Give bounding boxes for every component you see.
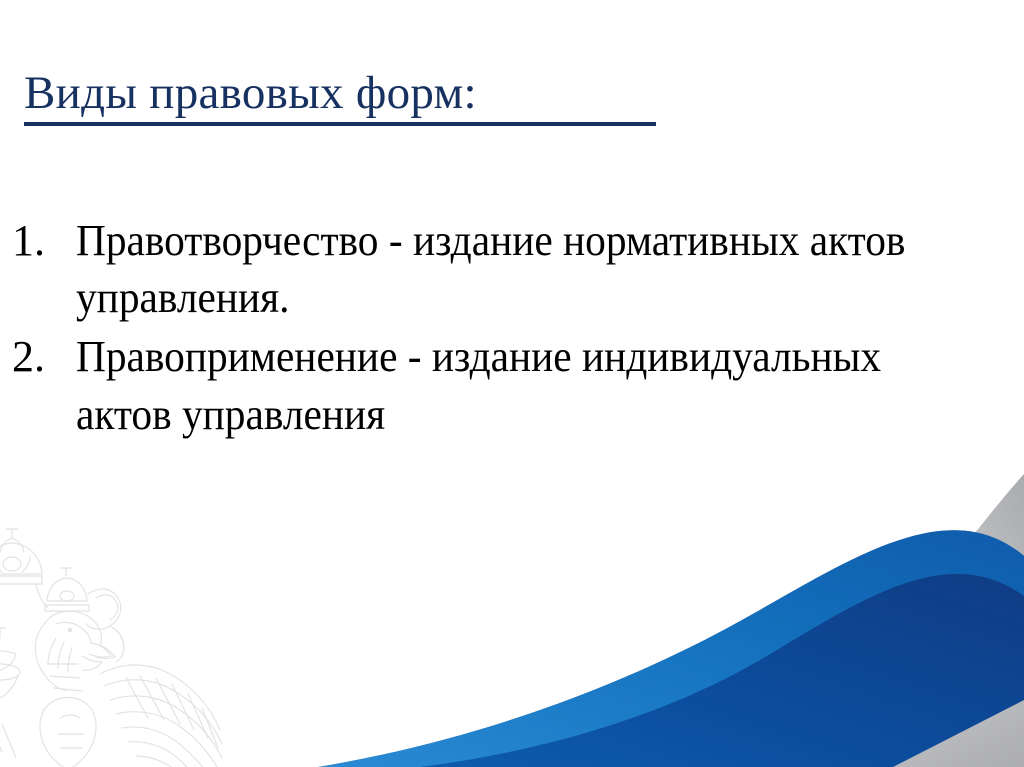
swoosh-blue-band	[318, 530, 1024, 767]
page-title: Виды правовых форм:	[24, 68, 684, 119]
presentation-slide: Виды правовых форм: 1. Правотворчество -…	[0, 0, 1024, 767]
content-body: 1. Правотворчество - издание нормативных…	[8, 212, 1008, 445]
swoosh-gray-accent	[948, 474, 1024, 612]
list-item-text: Правотворчество - издание нормативных ак…	[76, 212, 952, 326]
title-underline-rule	[24, 122, 656, 126]
list-item: 2. Правоприменение - издание индивидуаль…	[8, 328, 1008, 442]
list-item-marker: 1.	[12, 212, 45, 269]
numbered-list: 1. Правотворчество - издание нормативных…	[8, 212, 1008, 443]
title-block: Виды правовых форм:	[24, 68, 684, 126]
list-item: 1. Правотворчество - издание нормативных…	[8, 212, 1008, 326]
swoosh-gray-corner	[893, 700, 1024, 767]
coat-of-arms-eagle-icon	[0, 526, 260, 767]
list-item-text: Правоприменение - издание индивидуальных…	[76, 328, 952, 442]
swoosh-blue-highlight	[318, 530, 1024, 767]
list-item-marker: 2.	[12, 328, 45, 385]
